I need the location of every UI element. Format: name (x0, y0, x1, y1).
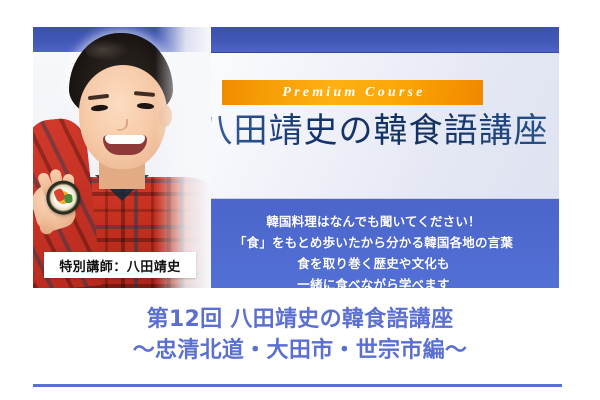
instructor-name-badge: 特別講師：八田靖史 (44, 252, 196, 278)
premium-course-badge: Premium Course (222, 80, 483, 105)
course-description: 韓国料理はなんでも聞いてください！ 「食」をもとめ歩いたから分かる韓国各地の言葉… (188, 211, 559, 288)
page-root: Premium Course 八田靖史の韓食語講座 韓国料理はなんでも聞いてくだ… (0, 0, 600, 400)
episode-title-line-2: 〜忠清北道・大田市・世宗市編〜 (0, 335, 600, 366)
photo-edge-fade (155, 27, 211, 288)
instructor-photo: 特別講師：八田靖史 (33, 27, 211, 288)
course-banner[interactable]: Premium Course 八田靖史の韓食語講座 韓国料理はなんでも聞いてくだ… (33, 27, 559, 288)
episode-title-line-1: 第12回 八田靖史の韓食語講座 (0, 304, 600, 335)
premium-course-label: Premium Course (279, 85, 425, 101)
description-line-3: 食を取り巻く歴史や文化も (188, 253, 559, 274)
description-line-1: 韓国料理はなんでも聞いてください！ (188, 211, 559, 232)
course-title: 八田靖史の韓食語講座 (188, 110, 559, 152)
section-divider (33, 384, 562, 387)
smile (103, 135, 147, 155)
description-line-4: 一緒に食べながら学べます (188, 274, 559, 288)
instructor-name-label: 特別講師：八田靖史 (59, 256, 181, 275)
description-line-2: 「食」をもとめ歩いたから分かる韓国各地の言葉 (188, 232, 559, 253)
page-title: 第12回 八田靖史の韓食語講座 〜忠清北道・大田市・世宗市編〜 (0, 304, 600, 366)
